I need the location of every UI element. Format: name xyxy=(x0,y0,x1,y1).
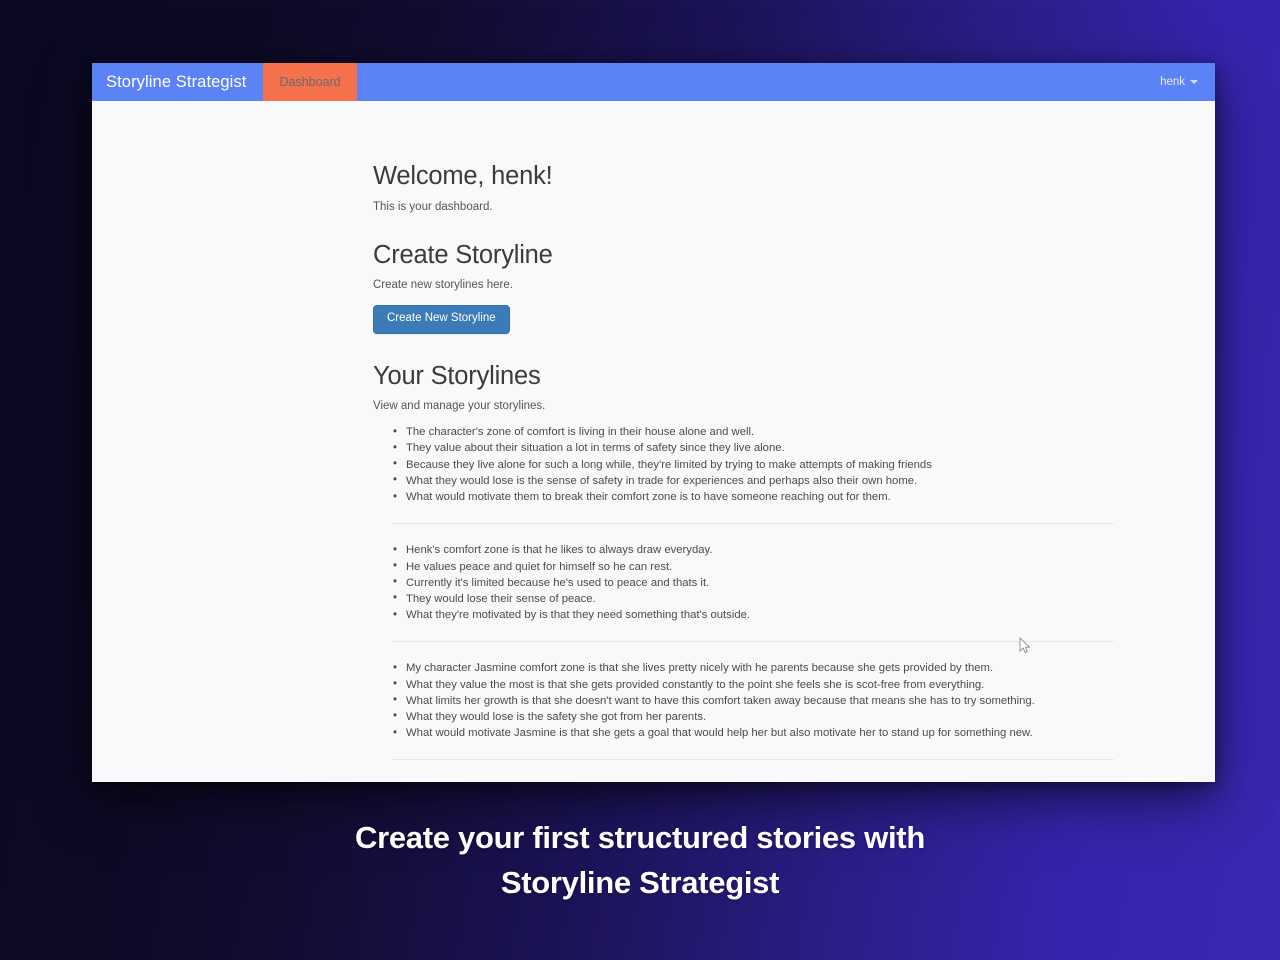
storyline-bullet-list: Henk's comfort zone is that he likes to … xyxy=(373,542,1115,623)
storyline-bullet-item: What they would lose is the safety she g… xyxy=(391,709,1115,725)
storyline-bullet-item: What limits her growth is that she doesn… xyxy=(391,693,1115,709)
storylines-list: The character's zone of comfort is livin… xyxy=(373,424,1115,760)
storyline-bullet-item: What would motivate Jasmine is that she … xyxy=(391,725,1115,741)
user-menu-label: henk xyxy=(1160,76,1185,88)
storyline-bullet-item: They value about their situation a lot i… xyxy=(391,440,1115,456)
caption-line-2: Storyline Strategist xyxy=(0,860,1280,905)
user-menu[interactable]: henk xyxy=(1160,63,1215,101)
create-new-storyline-button[interactable]: Create New Storyline xyxy=(373,305,510,334)
storyline-bullet-item: Currently it's limited because he's used… xyxy=(391,575,1115,591)
storyline-bullet-item: Henk's comfort zone is that he likes to … xyxy=(391,542,1115,558)
brand-logo[interactable]: Storyline Strategist xyxy=(92,63,263,101)
storyline-bullet-item: They would lose their sense of peace. xyxy=(391,591,1115,607)
storyline-separator xyxy=(392,641,1114,642)
your-storylines-subtitle: View and manage your storylines. xyxy=(373,400,1115,412)
storyline-bullet-item: What they value the most is that she get… xyxy=(391,677,1115,693)
create-storyline-heading: Create Storyline xyxy=(373,240,1115,271)
storyline-bullet-list: The character's zone of comfort is livin… xyxy=(373,424,1115,505)
page-content: Welcome, henk! This is your dashboard. C… xyxy=(92,101,1215,782)
browser-window: Storyline Strategist Dashboard henk Welc… xyxy=(92,63,1215,782)
storyline-bullet-item: What they're motivated by is that they n… xyxy=(391,607,1115,623)
chevron-down-icon xyxy=(1190,80,1198,84)
create-storyline-subtitle: Create new storylines here. xyxy=(373,279,1115,291)
storyline-group: The character's zone of comfort is livin… xyxy=(373,424,1115,505)
page-title: Welcome, henk! xyxy=(373,161,1115,192)
nav-tab-dashboard[interactable]: Dashboard xyxy=(263,63,356,101)
navbar: Storyline Strategist Dashboard henk xyxy=(92,63,1215,101)
storyline-bullet-item: He values peace and quiet for himself so… xyxy=(391,559,1115,575)
page-subtitle: This is your dashboard. xyxy=(373,201,1115,213)
storyline-separator xyxy=(392,523,1114,524)
storyline-bullet-item: What they would lose is the sense of saf… xyxy=(391,473,1115,489)
storyline-bullet-item: What would motivate them to break their … xyxy=(391,489,1115,505)
storyline-group: My character Jasmine comfort zone is tha… xyxy=(373,660,1115,741)
storyline-bullet-item: My character Jasmine comfort zone is tha… xyxy=(391,660,1115,676)
storyline-bullet-list: My character Jasmine comfort zone is tha… xyxy=(373,660,1115,741)
storyline-separator xyxy=(392,759,1114,760)
your-storylines-heading: Your Storylines xyxy=(373,361,1115,392)
caption-line-1: Create your first structured stories wit… xyxy=(0,815,1280,860)
storyline-bullet-item: Because they live alone for such a long … xyxy=(391,457,1115,473)
caption: Create your first structured stories wit… xyxy=(0,815,1280,905)
storyline-bullet-item: The character's zone of comfort is livin… xyxy=(391,424,1115,440)
content-container: Welcome, henk! This is your dashboard. C… xyxy=(373,161,1115,782)
storyline-group: Henk's comfort zone is that he likes to … xyxy=(373,542,1115,623)
